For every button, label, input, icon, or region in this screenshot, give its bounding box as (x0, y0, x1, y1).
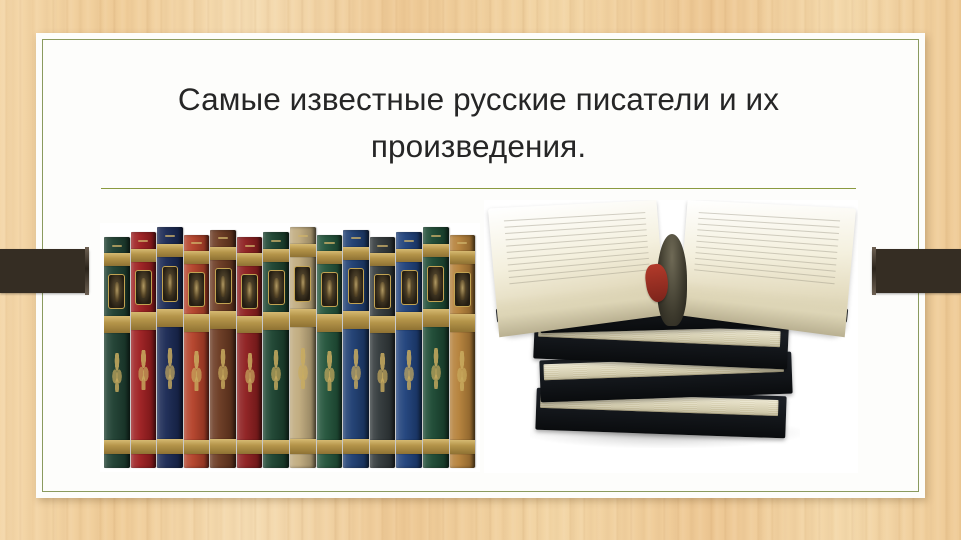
spine-gold-band (423, 244, 449, 257)
spine-gold-flourish (429, 348, 443, 389)
spine-gold-band (210, 439, 236, 453)
spine-title-line (298, 235, 308, 237)
spine-portrait-medallion (135, 270, 152, 305)
book-spine (210, 230, 236, 468)
spine-title-line (404, 240, 414, 242)
spine-title-line (271, 240, 281, 242)
spine-gold-band (317, 314, 343, 331)
left-ribbon-banner (0, 249, 89, 293)
spine-gold-flourish (163, 348, 177, 389)
spine-gold-band (343, 311, 369, 329)
book-spine (263, 232, 289, 468)
book-spines-rack (104, 225, 476, 468)
spine-gold-band (131, 440, 157, 454)
spine-gold-band (210, 247, 236, 260)
spine-portrait-medallion (454, 272, 471, 307)
spine-title-line (351, 237, 361, 239)
spine-gold-band (450, 440, 476, 454)
book-spine (104, 237, 130, 468)
spine-portrait-medallion (241, 274, 258, 309)
book-stack-image (484, 200, 858, 473)
spine-gold-band (184, 440, 210, 454)
spine-gold-flourish (349, 349, 363, 389)
book-spine (290, 227, 316, 468)
spine-gold-flourish (296, 348, 310, 389)
spine-gold-band (263, 440, 289, 454)
spine-gold-band (290, 309, 316, 327)
spine-gold-band (237, 440, 263, 454)
spine-title-line (324, 242, 334, 244)
spine-gold-band (343, 247, 369, 260)
slide-root: Самые известные русские писатели и их пр… (0, 0, 961, 540)
spine-gold-band (396, 249, 422, 262)
spine-gold-band (157, 309, 183, 327)
spine-gold-band (396, 440, 422, 454)
spine-title-line (218, 237, 228, 239)
spine-portrait-medallion (401, 270, 418, 305)
spine-portrait-medallion (188, 272, 205, 307)
spine-gold-band (370, 316, 396, 333)
spine-gold-band (157, 439, 183, 453)
spine-title-line (112, 245, 122, 247)
spine-gold-band (263, 249, 289, 262)
spine-gold-flourish (189, 351, 203, 391)
spine-portrait-medallion (321, 272, 338, 307)
spine-title-line (165, 235, 175, 237)
spine-gold-flourish (269, 350, 283, 390)
spine-portrait-medallion (348, 268, 365, 304)
spine-gold-band (104, 440, 130, 454)
spine-gold-band (184, 314, 210, 331)
spine-gold-band (210, 311, 236, 329)
spine-portrait-medallion (294, 266, 311, 302)
page-title: Самые известные русские писатели и их пр… (100, 76, 857, 169)
spine-portrait-medallion (215, 268, 232, 304)
spine-gold-band (317, 440, 343, 454)
book-stack-scene (484, 200, 858, 473)
book-spines-image (100, 223, 480, 472)
spine-gold-band (263, 312, 289, 330)
book-spine (370, 237, 396, 468)
spine-title-line (457, 242, 467, 244)
right-ribbon-banner (872, 249, 961, 293)
spine-portrait-medallion (108, 274, 125, 309)
spine-gold-band (343, 439, 369, 453)
book-spine (450, 235, 476, 468)
book-spine (423, 227, 449, 468)
spine-gold-flourish (402, 350, 416, 390)
spine-portrait-medallion (427, 266, 444, 302)
spine-gold-band (104, 253, 130, 266)
spine-title-line (191, 242, 201, 244)
spine-gold-flourish (322, 351, 336, 391)
book-spine (237, 237, 263, 468)
title-divider (101, 188, 856, 189)
spine-gold-band (131, 249, 157, 262)
book-spine (131, 232, 157, 468)
spine-gold-band (370, 253, 396, 266)
spine-gold-band (450, 314, 476, 331)
spine-portrait-medallion (162, 266, 179, 302)
spine-gold-band (237, 316, 263, 333)
spine-gold-band (423, 439, 449, 453)
spine-gold-band (290, 244, 316, 257)
spine-gold-flourish (110, 353, 124, 392)
book-spine (343, 230, 369, 468)
book-spine (396, 232, 422, 468)
spine-title-line (377, 245, 387, 247)
spine-title-line (245, 245, 255, 247)
open-book-page-right (679, 200, 856, 337)
spine-gold-band (450, 251, 476, 264)
spine-gold-flourish (375, 353, 389, 392)
book-spine (157, 227, 183, 468)
spine-gold-band (184, 251, 210, 264)
spine-gold-band (290, 439, 316, 453)
book-spine (317, 235, 343, 468)
spine-gold-flourish (455, 351, 469, 391)
spine-gold-flourish (136, 350, 150, 390)
spine-gold-flourish (243, 353, 257, 392)
book-spine (184, 235, 210, 468)
spine-title-line (431, 235, 441, 237)
spine-portrait-medallion (268, 270, 285, 305)
spine-gold-band (157, 244, 183, 257)
spine-gold-band (131, 312, 157, 330)
spine-gold-band (370, 440, 396, 454)
spine-gold-band (423, 309, 449, 327)
spine-gold-flourish (216, 349, 230, 389)
spine-portrait-medallion (374, 274, 391, 309)
spine-gold-band (104, 316, 130, 333)
ribbon-fold-icon (872, 247, 876, 295)
spine-gold-band (317, 251, 343, 264)
ribbon-fold-icon (85, 247, 89, 295)
open-book (494, 204, 850, 326)
spine-title-line (138, 240, 148, 242)
spine-gold-band (396, 312, 422, 330)
spine-gold-band (237, 253, 263, 266)
open-book-page-left (488, 200, 665, 337)
